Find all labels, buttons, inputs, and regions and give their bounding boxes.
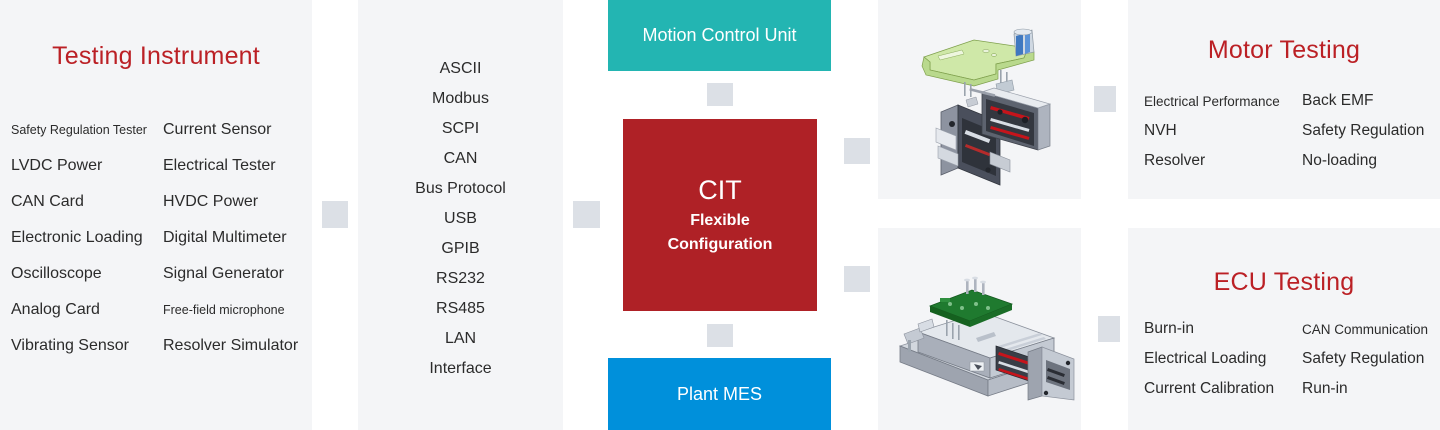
testing-instrument-panel: Testing Instrument Safety Regulation Tes… [0, 0, 312, 430]
motor-fixture-image-panel [878, 0, 1081, 199]
list-item: Back EMF [1302, 92, 1436, 110]
list-item: Signal Generator [163, 265, 301, 283]
list-item: Electrical Loading [1144, 350, 1302, 368]
cit-block: CIT Flexible Configuration [623, 119, 817, 311]
cit-title: CIT [698, 173, 742, 207]
list-item: Run-in [1302, 380, 1436, 398]
list-item: Electrical Performance [1144, 94, 1302, 109]
list-item: Electrical Tester [163, 157, 301, 175]
testing-instrument-title: Testing Instrument [0, 42, 312, 71]
cit-subtitle-line2: Configuration [668, 233, 773, 257]
list-item: NVH [1144, 122, 1302, 140]
list-item: RS485 [358, 294, 563, 324]
list-item: Resolver Simulator [163, 337, 301, 355]
list-item: Safety Regulation Tester [11, 123, 163, 137]
motor-testing-title: Motor Testing [1128, 36, 1440, 65]
motor-testing-list: Electrical Performance Back EMF NVH Safe… [1144, 86, 1436, 176]
list-item: Free-field microphone [163, 303, 301, 317]
list-item: GPIB [358, 234, 563, 264]
list-item: USB [358, 204, 563, 234]
list-item: CAN [358, 144, 563, 174]
ecu-test-fixture-cad-icon [878, 228, 1081, 430]
connector-protocol-to-cit [573, 201, 600, 228]
connector-cit-to-ecu [844, 266, 870, 292]
ecu-fixture-image-panel [878, 228, 1081, 430]
diagram-canvas: Testing Instrument Safety Regulation Tes… [0, 0, 1440, 430]
list-item: LAN [358, 324, 563, 354]
list-item: Electronic Loading [11, 229, 163, 247]
ecu-testing-list: Burn-in CAN Communication Electrical Loa… [1144, 314, 1436, 404]
list-item: Bus Protocol [358, 174, 563, 204]
list-item: CAN Communication [1302, 322, 1436, 337]
list-item: SCPI [358, 114, 563, 144]
cit-subtitle-line1: Flexible [690, 209, 750, 233]
protocol-list: ASCII Modbus SCPI CAN Bus Protocol USB G… [358, 54, 563, 384]
testing-instrument-list: Safety Regulation Tester Current Sensor … [11, 112, 301, 364]
connector-motion-to-cit [707, 83, 733, 106]
list-item: Burn-in [1144, 320, 1302, 338]
connector-cit-to-motor [844, 138, 870, 164]
list-item: Resolver [1144, 152, 1302, 170]
connector-cit-to-mes [707, 324, 733, 347]
list-item: Safety Regulation [1302, 350, 1436, 368]
connector-instrument-to-protocol [322, 201, 348, 228]
list-item: Current Sensor [163, 121, 301, 139]
list-item: ASCII [358, 54, 563, 84]
plant-mes-block: Plant MES [608, 358, 831, 430]
motion-control-unit-block: Motion Control Unit [608, 0, 831, 71]
connector-motor-img-to-motor-panel [1094, 86, 1116, 112]
plant-mes-label: Plant MES [677, 384, 762, 405]
list-item: Current Calibration [1144, 380, 1302, 398]
motor-testing-panel: Motor Testing Electrical Performance Bac… [1128, 0, 1440, 199]
list-item: Interface [358, 354, 563, 384]
list-item: CAN Card [11, 193, 163, 211]
ecu-testing-title: ECU Testing [1128, 268, 1440, 297]
list-item: Safety Regulation [1302, 122, 1436, 140]
list-item: HVDC Power [163, 193, 301, 211]
motion-control-unit-label: Motion Control Unit [642, 25, 796, 46]
ecu-testing-panel: ECU Testing Burn-in CAN Communication El… [1128, 228, 1440, 430]
list-item: Modbus [358, 84, 563, 114]
list-item: RS232 [358, 264, 563, 294]
motor-test-fixture-cad-icon [878, 0, 1081, 199]
list-item: Digital Multimeter [163, 229, 301, 247]
list-item: Analog Card [11, 301, 163, 319]
list-item: Oscilloscope [11, 265, 163, 283]
protocol-panel: ASCII Modbus SCPI CAN Bus Protocol USB G… [358, 0, 563, 430]
connector-ecu-img-to-ecu-panel [1098, 316, 1120, 342]
list-item: No-loading [1302, 152, 1436, 170]
list-item: LVDC Power [11, 157, 163, 175]
list-item: Vibrating Sensor [11, 337, 163, 355]
